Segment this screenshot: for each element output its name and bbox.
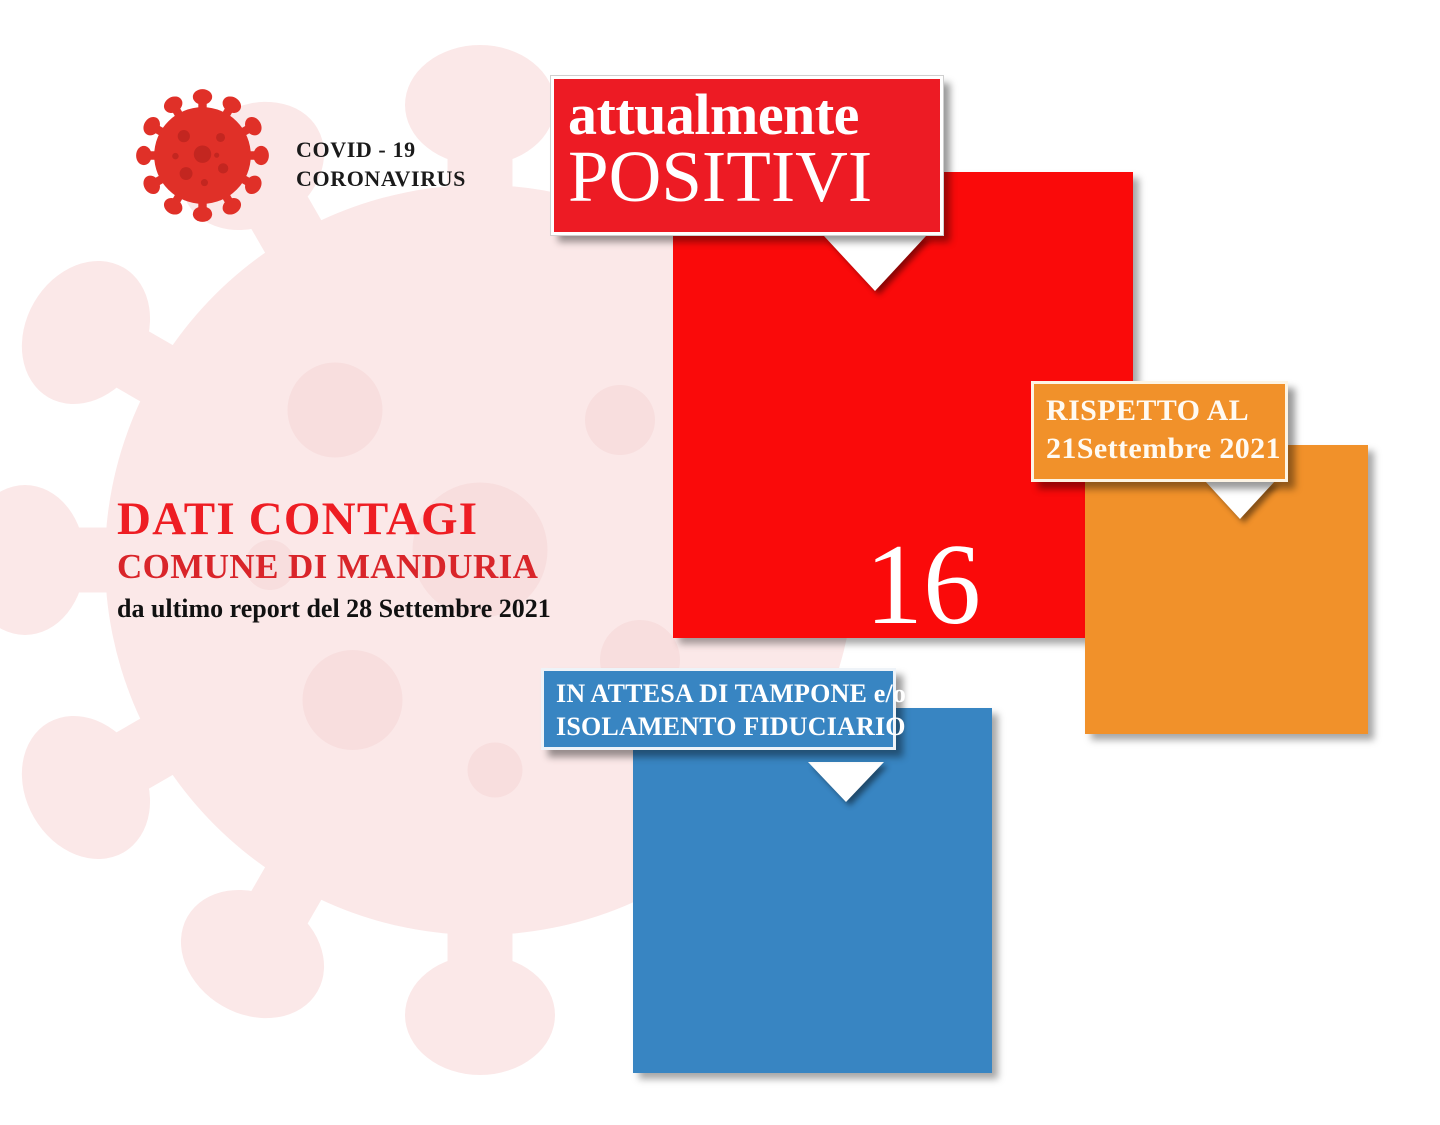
page-title-block: DATI CONTAGI COMUNE DI MANDURIA da ultim… <box>117 496 551 624</box>
coronavirus-icon <box>120 73 285 238</box>
stat-label-rispetto: RISPETTO AL 21Settembre 2021 <box>1031 381 1288 482</box>
triangle-down-icon-positivi <box>824 236 926 291</box>
triangle-down-icon-attesa <box>808 762 884 802</box>
brand-label: COVID - 19 CORONAVIRUS <box>296 136 466 193</box>
stat-label-positivi: attualmente POSITIVI <box>551 76 943 235</box>
infographic-canvas: COVID - 19 CORONAVIRUS DATI CONTAGI COMU… <box>0 0 1440 1125</box>
stat-label-rispetto-line1: RISPETTO AL <box>1046 392 1285 430</box>
stat-label-attesa-line1: IN ATTESA DI TAMPONE e/o <box>556 677 893 710</box>
triangle-down-icon-rispetto <box>1205 481 1275 519</box>
stat-label-rispetto-line2: 21Settembre 2021 <box>1046 430 1285 468</box>
stat-label-attesa-line2: ISOLAMENTO FIDUCIARIO <box>556 710 893 743</box>
stat-label-positivi-line2: POSITIVI <box>568 141 940 213</box>
page-subtitle: COMUNE DI MANDURIA <box>117 546 551 587</box>
report-date-note: da ultimo report del 28 Settembre 2021 <box>117 593 551 624</box>
stat-label-attesa: IN ATTESA DI TAMPONE e/o ISOLAMENTO FIDU… <box>541 668 896 750</box>
stat-value-positivi: 16 <box>693 527 1153 643</box>
brand-line-2: CORONAVIRUS <box>296 165 466 194</box>
brand-line-1: COVID - 19 <box>296 136 466 165</box>
page-title: DATI CONTAGI <box>117 496 551 544</box>
stat-value-rispetto: +4 <box>1085 1000 1368 1112</box>
